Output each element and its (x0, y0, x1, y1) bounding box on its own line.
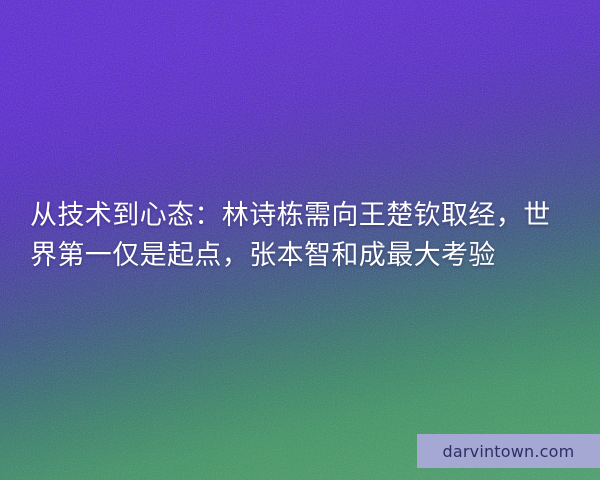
watermark-label: darvintown.com (443, 442, 575, 461)
headline-text: 从技术到心态：林诗栋需向王楚钦取经，世界第一仅是起点，张本智和成最大考验 (0, 196, 600, 276)
watermark-badge: darvintown.com (417, 434, 600, 468)
title-card: 从技术到心态：林诗栋需向王楚钦取经，世界第一仅是起点，张本智和成最大考验 dar… (0, 0, 600, 480)
